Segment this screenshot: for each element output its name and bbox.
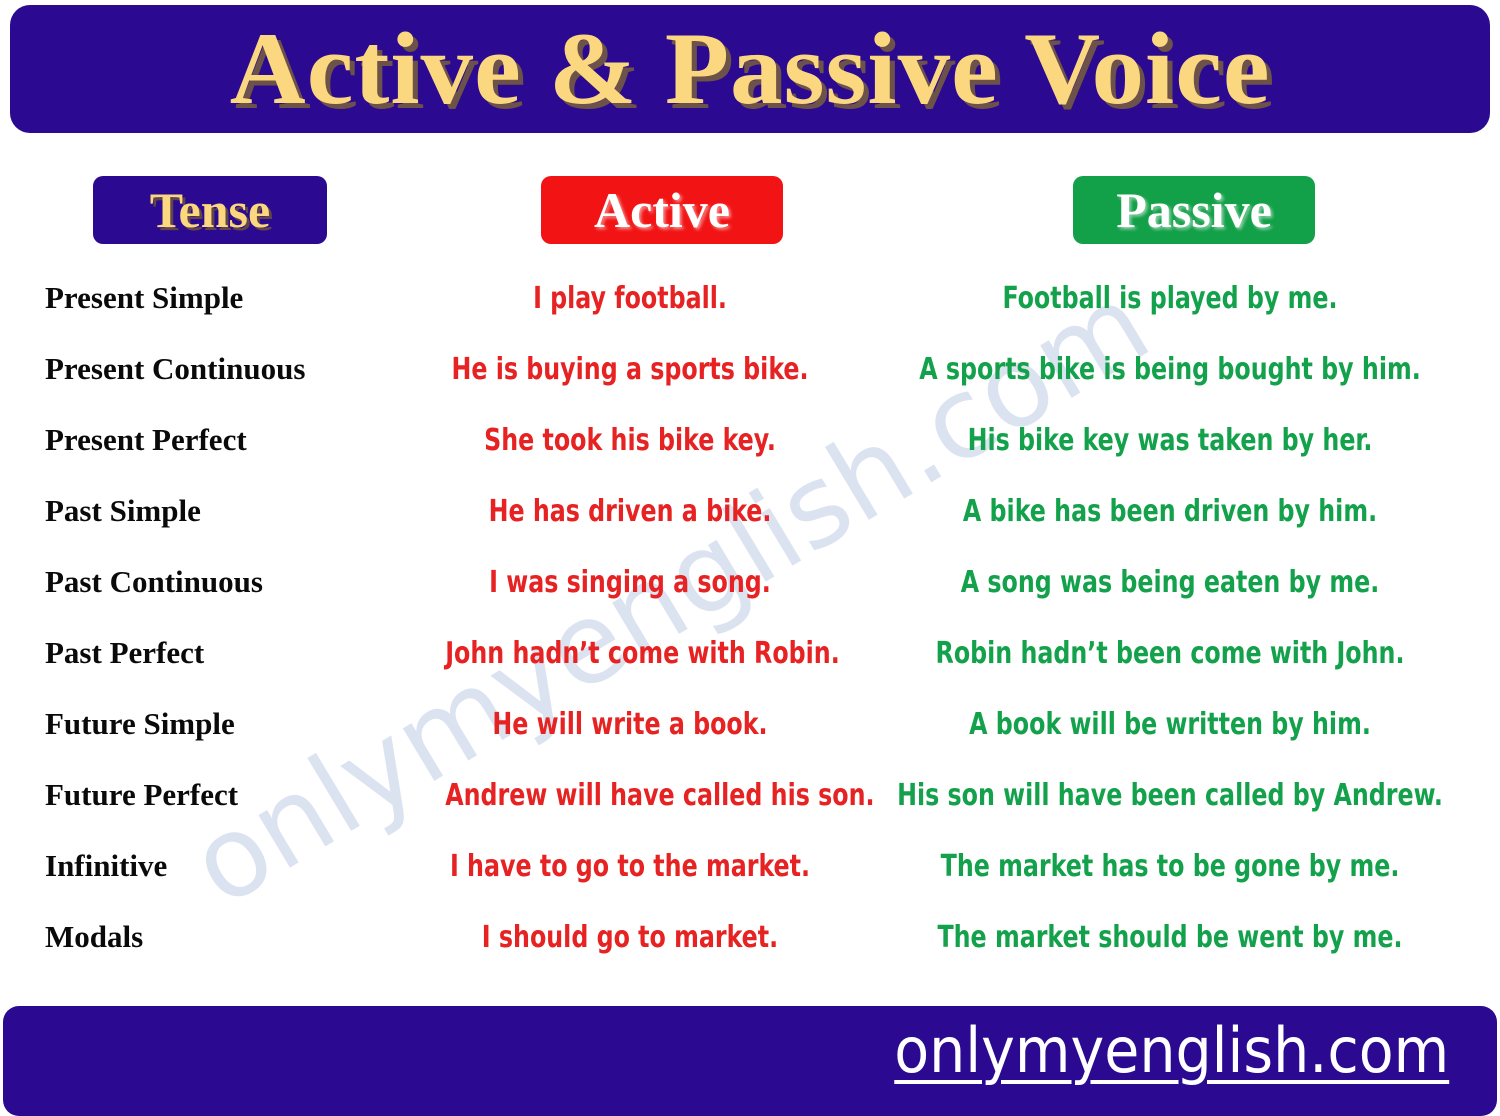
active-sentence: Andrew will have called his son. xyxy=(445,780,815,812)
passive-sentence: His bike key was taken by her. xyxy=(880,425,1461,457)
passive-sentence: The market has to be gone by me. xyxy=(880,851,1461,883)
table-row: Modals I should go to market. The market… xyxy=(0,902,1500,973)
table-row: Past Continuous I was singing a song. A … xyxy=(0,547,1500,618)
tense-label: Future Perfect xyxy=(0,779,420,812)
column-header-passive: Passive xyxy=(1073,176,1315,244)
tense-label: Past Continuous xyxy=(0,566,420,599)
tense-label: Past Simple xyxy=(0,495,420,528)
tense-label: Present Simple xyxy=(0,282,420,315)
table-row: Future Perfect Andrew will have called h… xyxy=(0,760,1500,831)
passive-sentence: A sports bike is being bought by him. xyxy=(880,354,1461,386)
passive-sentence: The market should be went by me. xyxy=(880,922,1461,954)
tense-label: Future Simple xyxy=(0,708,420,741)
tense-label: Modals xyxy=(0,921,420,954)
table-row: Future Simple He will write a book. A bo… xyxy=(0,689,1500,760)
passive-sentence: A bike has been driven by him. xyxy=(880,496,1461,528)
site-url[interactable]: onlymyenglish.com xyxy=(894,1020,1449,1082)
tense-label: Past Perfect xyxy=(0,637,420,670)
active-sentence: I should go to market. xyxy=(445,922,815,954)
column-headers: Tense Active Passive xyxy=(0,176,1500,246)
tense-label: Infinitive xyxy=(0,850,420,883)
table-row: Present Simple I play football. Football… xyxy=(0,263,1500,334)
tense-label: Present Perfect xyxy=(0,424,420,457)
column-header-tense-label: Tense xyxy=(150,185,270,235)
active-sentence: He is buying a sports bike. xyxy=(445,354,815,386)
table-row: Past Perfect John hadn’t come with Robin… xyxy=(0,618,1500,689)
column-header-active-label: Active xyxy=(594,185,730,235)
table-row: Infinitive I have to go to the market. T… xyxy=(0,831,1500,902)
table-row: Present Continuous He is buying a sports… xyxy=(0,334,1500,405)
active-sentence: He has driven a bike. xyxy=(445,496,815,528)
active-sentence: She took his bike key. xyxy=(445,425,815,457)
column-header-active: Active xyxy=(541,176,783,244)
passive-sentence: His son will have been called by Andrew. xyxy=(880,780,1461,812)
active-sentence: John hadn’t come with Robin. xyxy=(445,638,815,670)
passive-sentence: Robin hadn’t been come with John. xyxy=(880,638,1461,670)
passive-sentence: A book will be written by him. xyxy=(880,709,1461,741)
table-row: Past Simple He has driven a bike. A bike… xyxy=(0,476,1500,547)
active-sentence: I play football. xyxy=(445,283,815,315)
active-sentence: I was singing a song. xyxy=(445,567,815,599)
active-sentence: He will write a book. xyxy=(445,709,815,741)
title-banner: Active & Passive Voice xyxy=(10,5,1490,133)
active-sentence: I have to go to the market. xyxy=(445,851,815,883)
column-header-passive-label: Passive xyxy=(1116,185,1272,235)
table-row: Present Perfect She took his bike key. H… xyxy=(0,405,1500,476)
voice-table: Present Simple I play football. Football… xyxy=(0,263,1500,973)
passive-sentence: Football is played by me. xyxy=(880,283,1461,315)
page-title: Active & Passive Voice xyxy=(230,18,1271,121)
column-header-tense: Tense xyxy=(93,176,327,244)
passive-sentence: A song was being eaten by me. xyxy=(880,567,1461,599)
tense-label: Present Continuous xyxy=(0,353,420,386)
